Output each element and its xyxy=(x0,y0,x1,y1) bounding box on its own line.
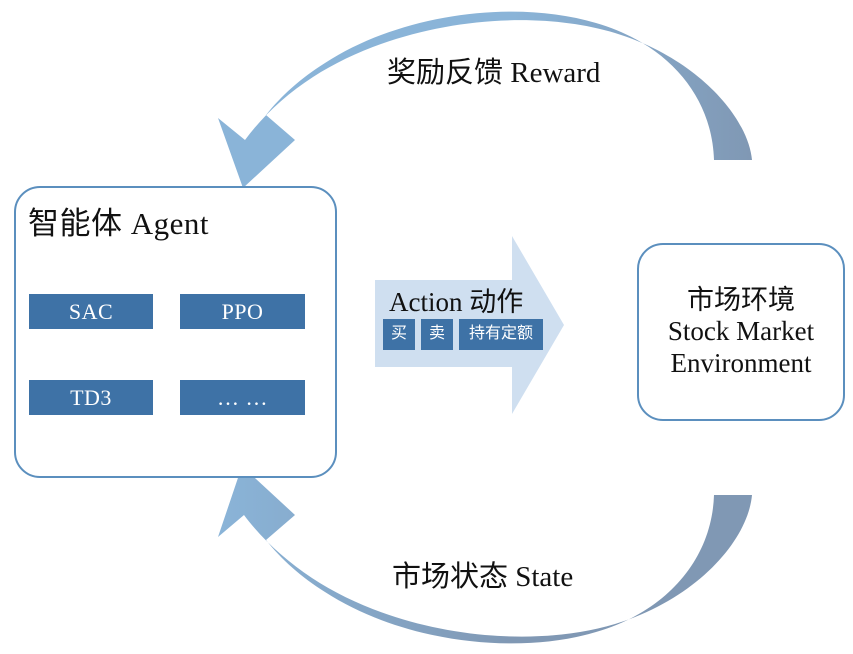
algorithm-chip-td3[interactable]: TD3 xyxy=(29,380,153,415)
state-label: 市场状态 State xyxy=(392,553,573,595)
algorithm-chip-ppo[interactable]: PPO xyxy=(180,294,305,329)
environment-text: 市场环境 Stock Market Environment xyxy=(662,285,820,380)
reward-arrow xyxy=(218,12,752,188)
environment-title-en-line2: Environment xyxy=(668,348,814,380)
action-option-buy[interactable]: 买 xyxy=(383,319,415,350)
action-option-hold[interactable]: 持有定额 xyxy=(459,319,543,350)
action-option-sell[interactable]: 卖 xyxy=(421,319,453,350)
action-label: Action 动作 xyxy=(389,280,549,319)
reward-label: 奖励反馈 Reward xyxy=(387,49,600,91)
action-options-group: 买 卖 持有定额 xyxy=(383,319,543,350)
agent-title: 智能体 Agent xyxy=(28,198,209,243)
environment-title-en-line1: Stock Market xyxy=(668,316,814,348)
environment-box: 市场环境 Stock Market Environment xyxy=(637,243,845,421)
algorithm-chip-sac[interactable]: SAC xyxy=(29,294,153,329)
action-arrow: Action 动作 买 卖 持有定额 xyxy=(375,234,565,416)
diagram-canvas: 奖励反馈 Reward 市场状态 State 智能体 Agent SAC PPO… xyxy=(0,0,853,654)
algorithm-chip-more[interactable]: … … xyxy=(180,380,305,415)
environment-title-cn: 市场环境 xyxy=(668,285,814,317)
